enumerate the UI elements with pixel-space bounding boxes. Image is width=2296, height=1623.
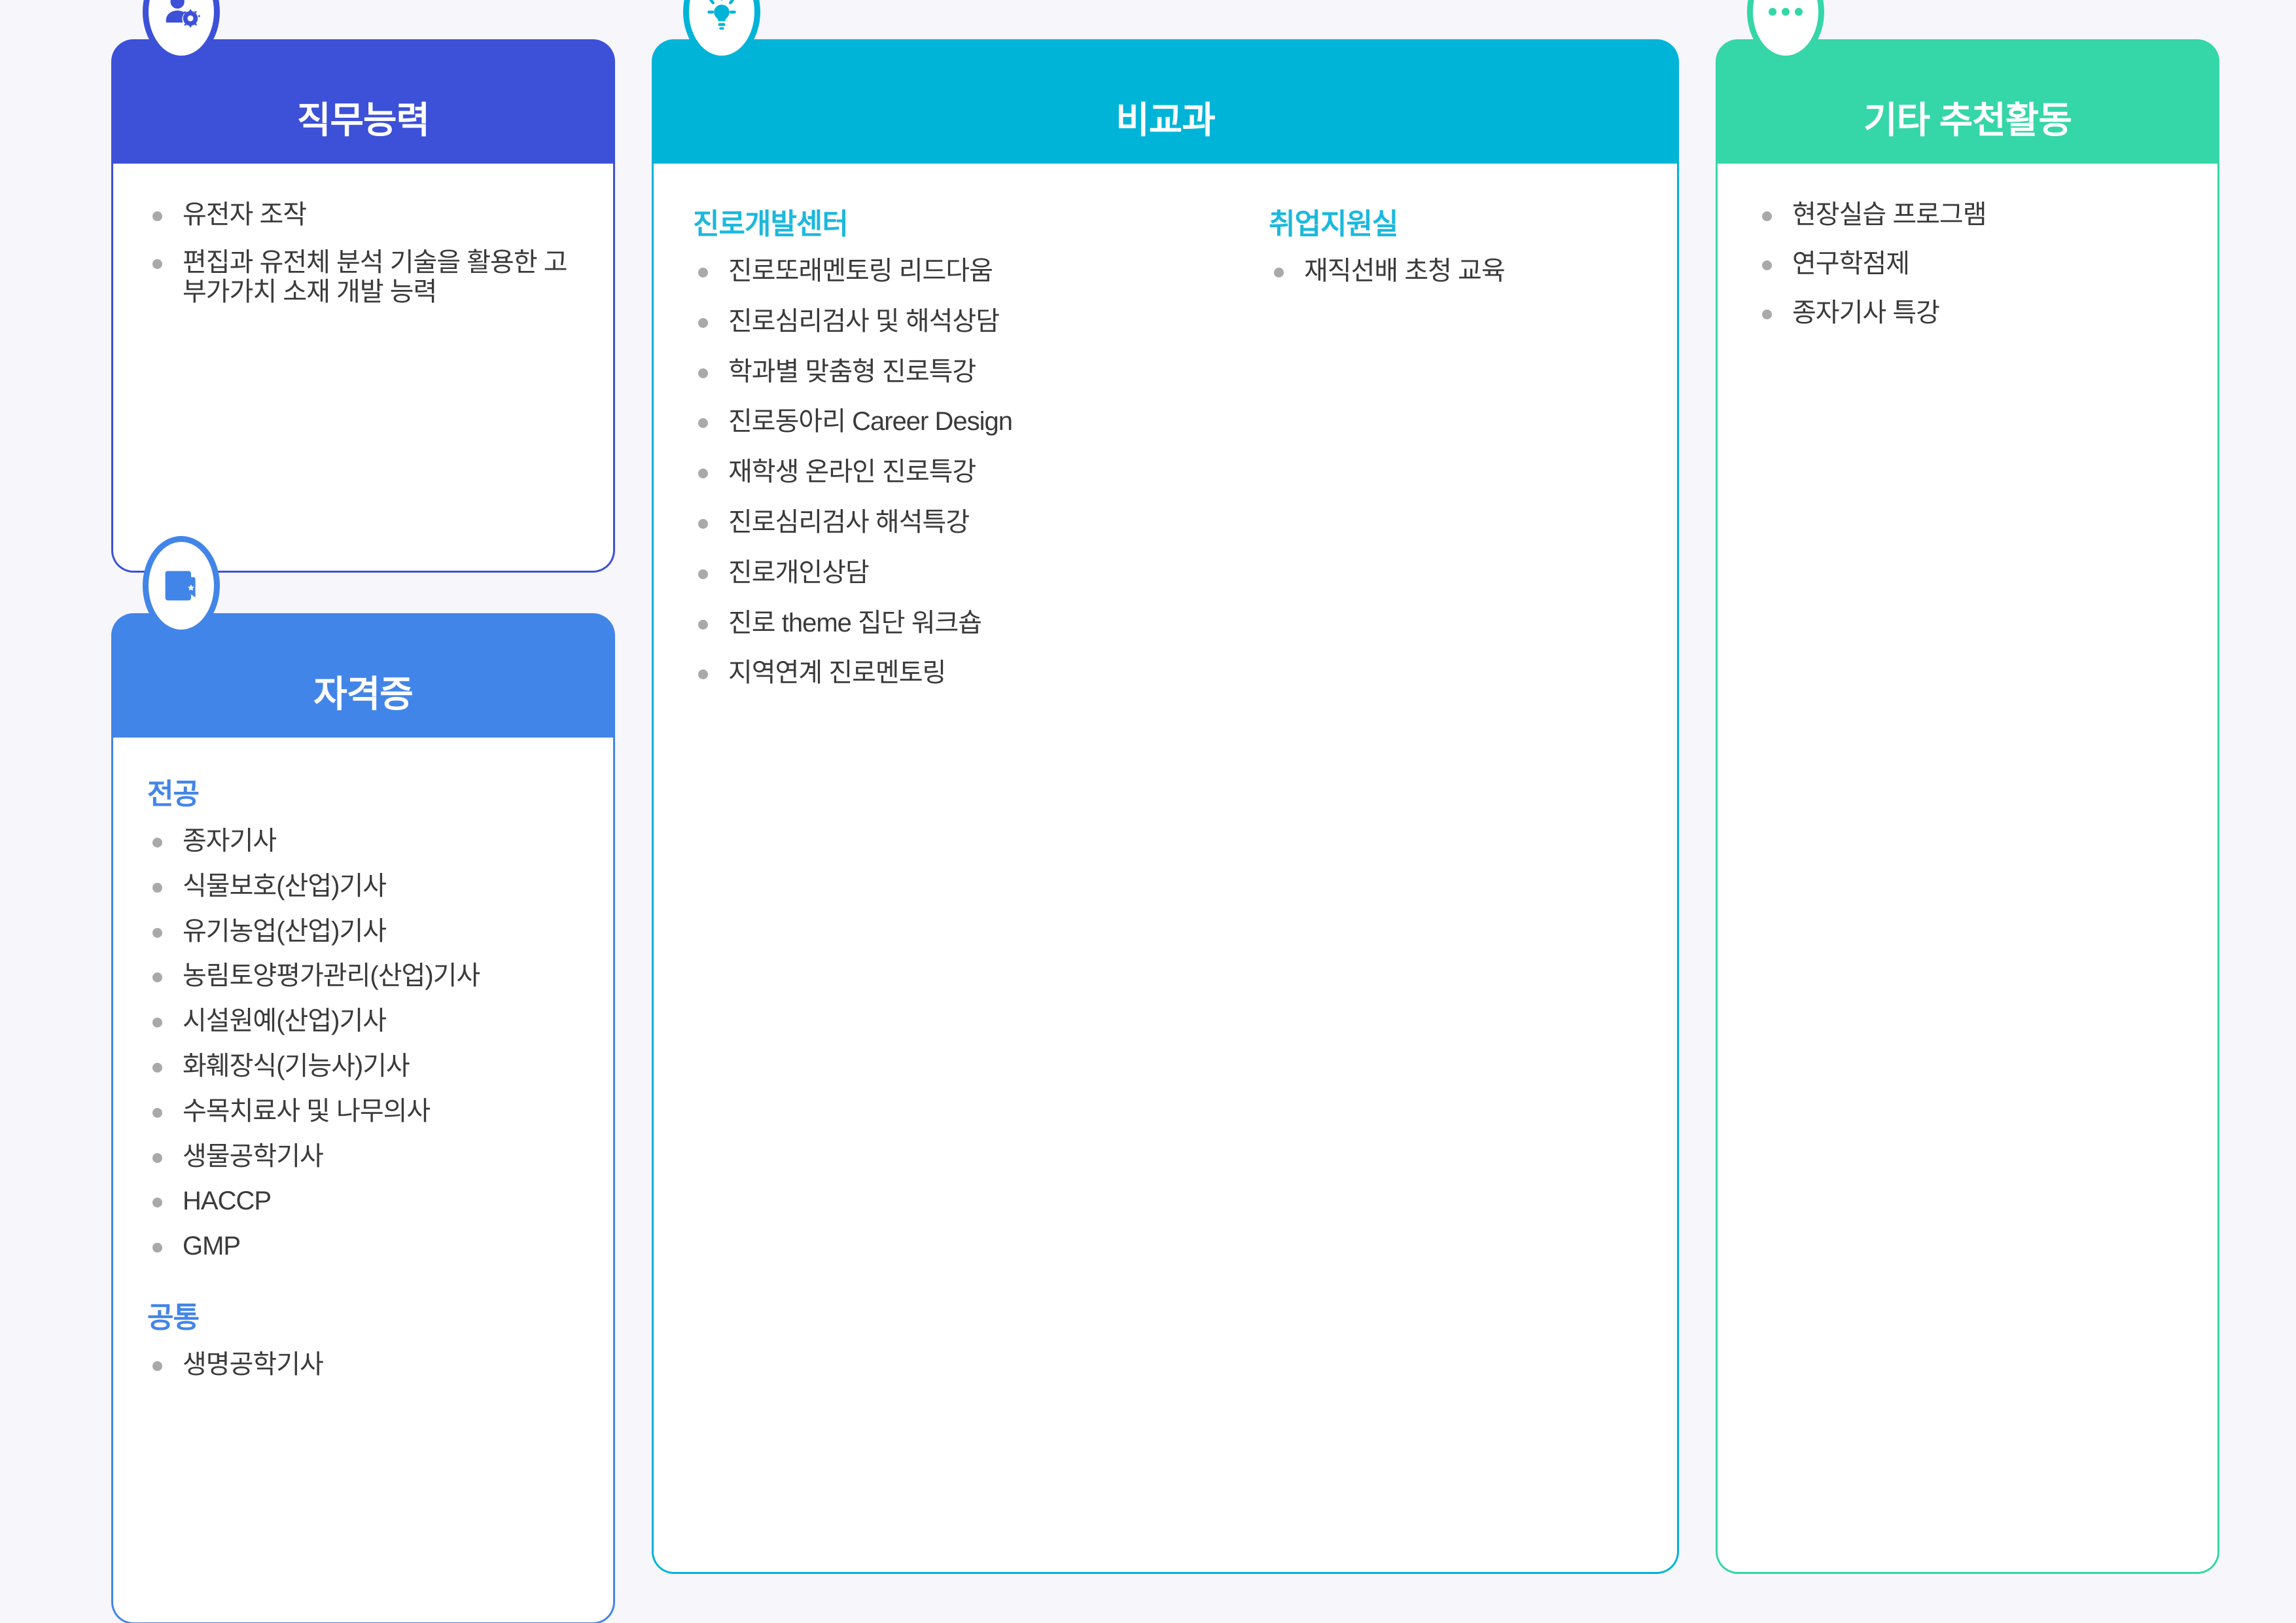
card-title-duty-competency: 직무능력 — [297, 64, 429, 139]
non-curricular-columns: 진로개발센터 진로또래멘토링 리드다움 진로심리검사 및 해석상담 학과별 맞춤… — [693, 200, 1638, 709]
infographic-board: 직무능력 유전자 조작 편집과 유전체 분석 기술을 활용한 고부가가치 소재 … — [0, 0, 2296, 1623]
list-item: 진로개인상담 — [693, 558, 1269, 588]
list-item: HACCP — [147, 1186, 579, 1216]
list-item: 화훼장식(기능사)기사 — [147, 1052, 579, 1081]
list-item: 재직선배 초청 교육 — [1269, 257, 1638, 286]
list-item: 진로동아리 Career Design — [693, 407, 1269, 437]
left-column: 직무능력 유전자 조작 편집과 유전체 분석 기술을 활용한 고부가가치 소재 … — [111, 39, 615, 1623]
list-item: 진로심리검사 및 해석상담 — [693, 307, 1269, 336]
list-employment-office: 재직선배 초청 교육 — [1269, 257, 1638, 286]
ellipsis-icon — [1747, 0, 1824, 62]
card-body-certificates: 전공 종자기사 식물보호(산업)기사 유기농업(산업)기사 농림토양평가관리(산… — [111, 738, 615, 1623]
list-item: 농림토양평가관리(산업)기사 — [147, 961, 579, 991]
card-body-duty-competency: 유전자 조작 편집과 유전체 분석 기술을 활용한 고부가가치 소재 개발 능력 — [111, 164, 615, 573]
right-column: 기타 추천활동 현장실습 프로그램 연구학점제 종자기사 특강 — [1716, 39, 2219, 1574]
list-item: 생명공학기사 — [147, 1350, 579, 1380]
list-item: 연구학점제 — [1757, 249, 2178, 279]
list-certificates-common: 생명공학기사 — [147, 1350, 579, 1380]
certificate-icon — [143, 536, 220, 635]
list-item: 종자기사 특강 — [1757, 298, 2178, 328]
list-item: 유기농업(산업)기사 — [147, 917, 579, 946]
list-item: 수목치료사 및 나무의사 — [147, 1097, 579, 1126]
career-center-column: 진로개발센터 진로또래멘토링 리드다움 진로심리검사 및 해석상담 학과별 맞춤… — [693, 200, 1269, 709]
list-item: 시설원예(산업)기사 — [147, 1007, 579, 1036]
card-body-other-activities: 현장실습 프로그램 연구학점제 종자기사 특강 — [1716, 164, 2219, 1574]
list-item: GMP — [147, 1232, 579, 1261]
card-title-non-curricular: 비교과 — [1116, 64, 1215, 139]
list-item: 현장실습 프로그램 — [1757, 200, 2178, 230]
list-other-activities: 현장실습 프로그램 연구학점제 종자기사 특강 — [1757, 200, 2178, 327]
card-header-non-curricular: 비교과 — [652, 39, 1679, 164]
card-duty-competency: 직무능력 유전자 조작 편집과 유전체 분석 기술을 활용한 고부가가치 소재 … — [111, 39, 615, 573]
list-item: 진로또래멘토링 리드다움 — [693, 257, 1269, 286]
list-item: 학과별 맞춤형 진로특강 — [693, 357, 1269, 387]
list-item: 생물공학기사 — [147, 1142, 579, 1171]
employment-office-column: 취업지원실 재직선배 초청 교육 — [1269, 200, 1638, 709]
list-item: 지역연계 진로멘토링 — [693, 658, 1269, 688]
card-header-duty-competency: 직무능력 — [111, 39, 615, 164]
middle-column: 비교과 진로개발센터 진로또래멘토링 리드다움 진로심리검사 및 해석상담 학과… — [652, 39, 1679, 1574]
list-career-center: 진로또래멘토링 리드다움 진로심리검사 및 해석상담 학과별 맞춤형 진로특강 … — [693, 257, 1269, 688]
list-item: 진로 theme 집단 워크숍 — [693, 609, 1269, 638]
card-title-certificates: 자격증 — [313, 638, 413, 713]
list-item: 종자기사 — [147, 827, 579, 856]
card-non-curricular: 비교과 진로개발센터 진로또래멘토링 리드다움 진로심리검사 및 해석상담 학과… — [652, 39, 1679, 1574]
list-duty-competency: 유전자 조작 편집과 유전체 분석 기술을 활용한 고부가가치 소재 개발 능력 — [147, 200, 579, 306]
list-item: 재학생 온라인 진로특강 — [693, 457, 1269, 487]
user-gear-icon — [143, 0, 220, 62]
section-heading-common: 공통 — [147, 1294, 579, 1336]
section-heading-career-center: 진로개발센터 — [693, 200, 1269, 242]
card-other-activities: 기타 추천활동 현장실습 프로그램 연구학점제 종자기사 특강 — [1716, 39, 2219, 1574]
list-item: 식물보호(산업)기사 — [147, 872, 579, 901]
card-header-other-activities: 기타 추천활동 — [1716, 39, 2219, 164]
list-item: 유전자 조작 — [147, 200, 579, 230]
lightbulb-icon — [683, 0, 760, 62]
list-item: 편집과 유전체 분석 기술을 활용한 고부가가치 소재 개발 능력 — [147, 248, 579, 307]
card-certificates: 자격증 전공 종자기사 식물보호(산업)기사 유기농업(산업)기사 농림토양평가… — [111, 613, 615, 1623]
section-heading-employment-office: 취업지원실 — [1269, 200, 1638, 242]
card-body-non-curricular: 진로개발센터 진로또래멘토링 리드다움 진로심리검사 및 해석상담 학과별 맞춤… — [652, 164, 1679, 1574]
card-title-other-activities: 기타 추천활동 — [1863, 64, 2072, 139]
section-heading-major: 전공 — [147, 770, 579, 812]
card-header-certificates: 자격증 — [111, 613, 615, 738]
list-item: 진로심리검사 해석특강 — [693, 508, 1269, 537]
list-certificates-major: 종자기사 식물보호(산업)기사 유기농업(산업)기사 농림토양평가관리(산업)기… — [147, 827, 579, 1261]
